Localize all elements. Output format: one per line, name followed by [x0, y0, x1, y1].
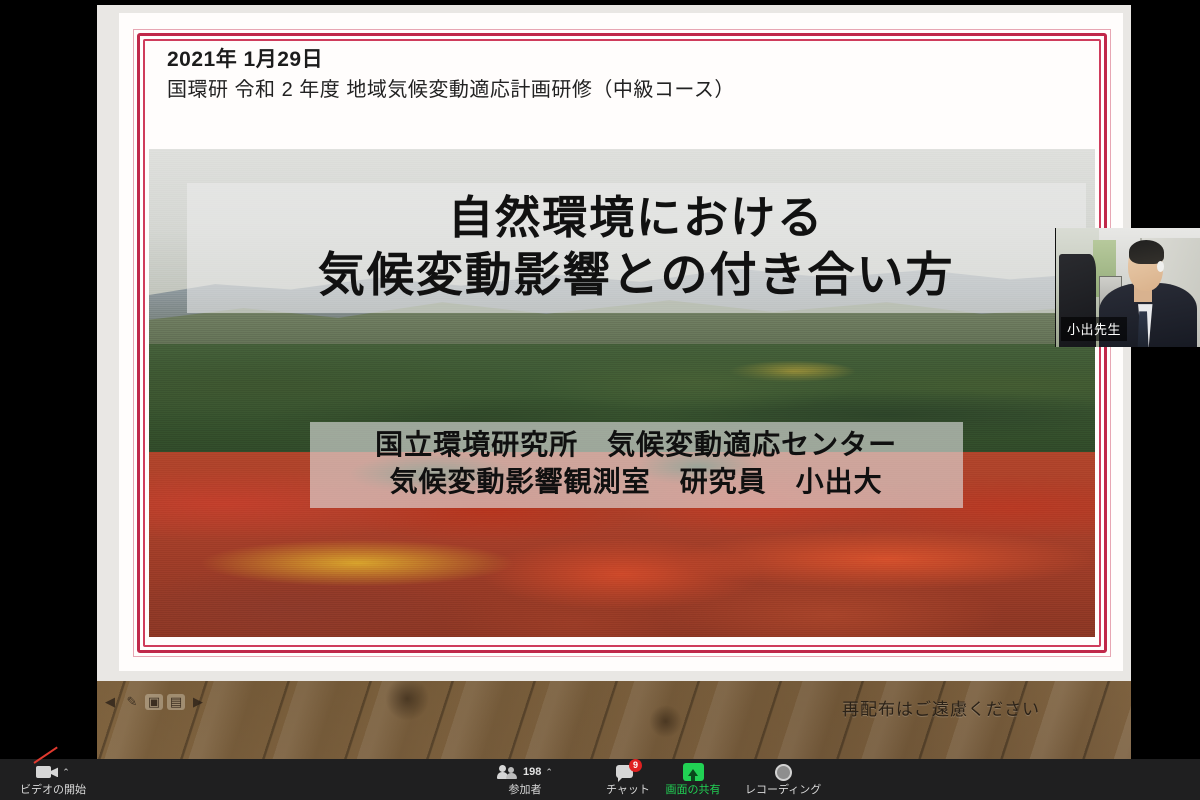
- participant-count: 198: [523, 766, 541, 778]
- slide-title-line-1: 自然環境における: [187, 191, 1086, 246]
- presenter-earphone-icon: [1157, 261, 1164, 272]
- annotation-toolbar[interactable]: ◀ ✎ ▣ ▤ ▶: [97, 691, 211, 713]
- video-options-chevron-up-icon[interactable]: ⌃: [62, 768, 70, 778]
- slide-affiliation-line-1: 国立環境研究所 気候変動適応センター: [320, 427, 953, 464]
- share-screen-icon-row: [683, 762, 704, 782]
- chat-icon[interactable]: 9: [616, 763, 640, 781]
- start-video-label: ビデオの開始: [20, 784, 86, 796]
- participants-icon-row: 198 ⌃: [497, 762, 553, 782]
- participants-chevron-up-icon[interactable]: ⌃: [545, 768, 553, 778]
- zoom-meeting-toolbar: ⌃ ビデオの開始 198 ⌃ 参加者 9 チャット: [0, 759, 1200, 800]
- slide-header: 2021年 1月29日 国環研 令和 2 年度 地域気候変動適応計画研修（中級コ…: [167, 45, 735, 105]
- redistribution-notice: 再配布はご遠慮ください: [842, 695, 1040, 720]
- start-video-icon-row: ⌃: [36, 762, 70, 782]
- slide-title-band: 自然環境における 気候変動影響との付き合い方: [187, 183, 1086, 313]
- chat-unread-badge: 9: [629, 759, 642, 772]
- slide-page: 2021年 1月29日 国環研 令和 2 年度 地域気候変動適応計画研修（中級コ…: [119, 13, 1123, 671]
- participant-name-label: 小出先生: [1061, 317, 1127, 341]
- zoom-meeting-window: 2021年 1月29日 国環研 令和 2 年度 地域気候変動適応計画研修（中級コ…: [0, 0, 1200, 800]
- record-label: レコーディング: [745, 784, 821, 796]
- chat-icon-row: 9: [616, 762, 640, 782]
- slide-date: 2021年 1月29日: [167, 45, 735, 75]
- shared-screen-region[interactable]: 2021年 1月29日 国環研 令和 2 年度 地域気候変動適応計画研修（中級コ…: [97, 5, 1131, 759]
- participants-label: 参加者: [509, 784, 542, 796]
- share-screen-button[interactable]: 画面の共有: [665, 759, 721, 800]
- presenter-hair: [1129, 240, 1164, 264]
- people-icon[interactable]: [497, 765, 519, 780]
- redo-arrow-icon[interactable]: ▶: [189, 694, 207, 710]
- share-screen-label: 画面の共有: [666, 784, 721, 796]
- record-icon-row: [775, 762, 792, 782]
- undo-arrow-icon[interactable]: ◀: [101, 694, 119, 710]
- stamp-icon[interactable]: ▤: [167, 694, 185, 710]
- eraser-icon[interactable]: ▣: [145, 694, 163, 710]
- slide-title-line-2: 気候変動影響との付き合い方: [187, 246, 1086, 303]
- slide-photograph-autumn-mountain: 自然環境における 気候変動影響との付き合い方 国立環境研究所 気候変動適応センタ…: [149, 149, 1095, 637]
- video-off-icon[interactable]: [36, 765, 58, 779]
- slide-course-title: 国環研 令和 2 年度 地域気候変動適応計画研修（中級コース）: [167, 75, 735, 105]
- chat-button[interactable]: 9 チャット: [600, 759, 656, 800]
- chat-label: チャット: [606, 784, 650, 796]
- pen-icon[interactable]: ✎: [123, 694, 141, 710]
- participants-button[interactable]: 198 ⌃ 参加者: [497, 759, 553, 800]
- record-button[interactable]: レコーディング: [745, 759, 821, 800]
- presenter-video-thumbnail[interactable]: 小出先生: [1055, 228, 1200, 347]
- presentation-slide-window[interactable]: 2021年 1月29日 国環研 令和 2 年度 地域気候変動適応計画研修（中級コ…: [97, 5, 1131, 681]
- slide-affiliation-band: 国立環境研究所 気候変動適応センター 気候変動影響観測室 研究員 小出大: [310, 422, 963, 508]
- share-screen-icon[interactable]: [683, 763, 704, 781]
- start-video-button[interactable]: ⌃ ビデオの開始: [20, 759, 86, 800]
- slide-affiliation-line-2: 気候変動影響観測室 研究員 小出大: [320, 464, 953, 501]
- record-icon[interactable]: [775, 764, 792, 781]
